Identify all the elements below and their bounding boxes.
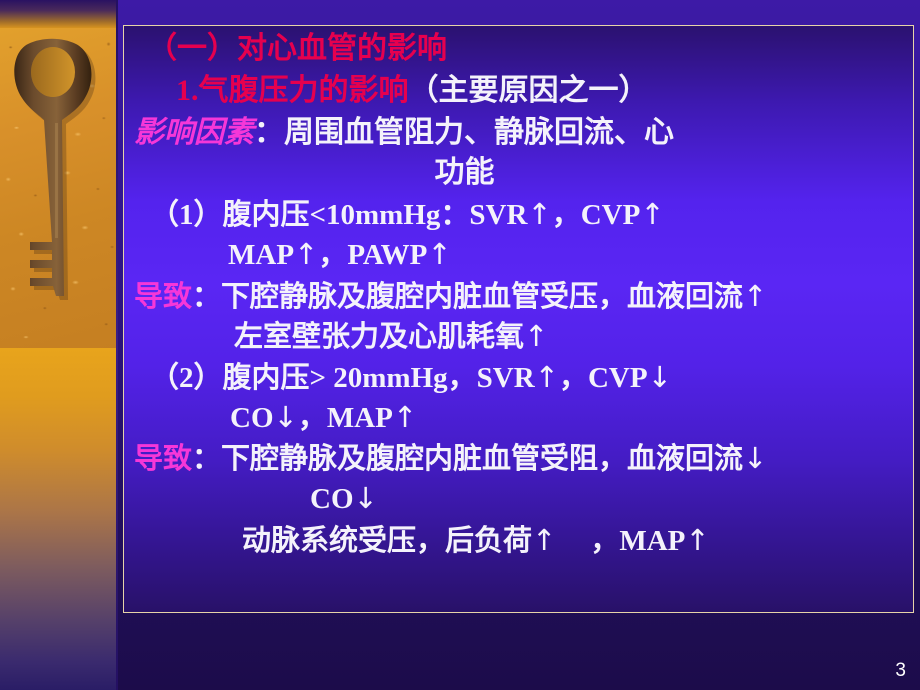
arrow-up-icon: ↑ (427, 237, 451, 271)
text-line-10: CO↓，MAP↑ (124, 403, 914, 433)
sidebar-edge-line (116, 0, 118, 690)
case2-cvp-label: ，CVP (559, 362, 648, 394)
iron-key-icon (0, 28, 118, 350)
subsection-title: 1.气腹压力的影响 (176, 74, 409, 107)
text-line-13: 动脉系统受压，后负荷↑，MAP↑ (124, 526, 914, 556)
arrow-up-icon: ↑ (743, 279, 767, 313)
result-text-1: ：下腔静脉及腹腔内脏血管受压，血液回流 (192, 281, 743, 313)
text-line-7: 导致：下腔静脉及腹腔内脏血管受压，血液回流↑ (124, 282, 914, 312)
case2-map-label: ，MAP (298, 402, 393, 434)
case1-map-label: MAP (228, 239, 294, 271)
text-line-6: MAP↑，PAWP↑ (124, 240, 914, 270)
text-line-2: 1.气腹压力的影响（主要原因之一） (124, 76, 914, 106)
arrow-down-icon: ↓ (354, 481, 378, 515)
arrow-up-icon: ↑ (524, 319, 548, 353)
result-text-3: 动脉系统受压，后负荷 (242, 525, 532, 557)
case1-cvp-label: ，CVP (552, 199, 641, 231)
result-text-2: ：下腔静脉及腹腔内脏血管受阻，血液回流 (192, 443, 743, 475)
result-label-1: 导致 (134, 281, 192, 313)
text-line-8: 左室壁张力及心肌耗氧↑ (124, 322, 914, 352)
arrow-up-icon: ↑ (527, 197, 551, 231)
arrow-up-icon: ↑ (535, 360, 559, 394)
slide-canvas: （一）对心血管的影响 1.气腹压力的影响（主要原因之一） 影响因素：周围血管阻力… (0, 0, 920, 690)
text-line-3: 影响因素：周围血管阻力、静脉回流、心 (124, 118, 914, 148)
sidebar-decoration (0, 0, 118, 690)
text-line-11: 导致：下腔静脉及腹腔内脏血管受阻，血液回流↓ (124, 444, 914, 474)
result-co-label: CO (310, 483, 354, 515)
arrow-up-icon: ↑ (294, 237, 318, 271)
arrow-up-icon: ↑ (640, 197, 664, 231)
result-map-label: MAP (619, 525, 685, 557)
content-frame: （一）对心血管的影响 1.气腹压力的影响（主要原因之一） 影响因素：周围血管阻力… (123, 25, 914, 613)
arrow-up-icon: ↑ (532, 523, 556, 557)
factors-value: ：周围血管阻力、静脉回流、心 (254, 116, 674, 149)
arrow-down-icon: ↓ (274, 400, 298, 434)
factors-label: 影响因素 (134, 116, 254, 149)
text-line-1: （一）对心血管的影响 (124, 34, 914, 64)
case1-pawp-label: ，PAWP (318, 239, 427, 271)
sidebar-bottom-gradient (0, 348, 118, 690)
text-line-5: （1）腹内压<10mmHg：SVR↑，CVP↑ (124, 200, 914, 230)
text-line-12: CO↓ (124, 484, 914, 514)
result-label-2: 导致 (134, 443, 192, 475)
result-text-1b: 左室壁张力及心肌耗氧 (234, 321, 524, 353)
section-heading: （一）对心血管的影响 (147, 32, 447, 65)
case2-co-label: CO (230, 402, 274, 434)
case2-condition: （2）腹内压> 20mmHg，SVR (150, 362, 535, 394)
arrow-down-icon: ↓ (648, 360, 672, 394)
text-line-9: （2）腹内压> 20mmHg，SVR↑，CVP↓ (124, 363, 914, 393)
page-number: 3 (895, 660, 906, 682)
subsection-note: （主要原因之一） (409, 74, 649, 107)
case1-condition: （1）腹内压<10mmHg：SVR (150, 199, 527, 231)
factors-continued: 功能 (435, 156, 495, 189)
arrow-up-icon: ↑ (393, 400, 417, 434)
text-line-4: 功能 (124, 158, 914, 188)
arrow-up-icon: ↑ (685, 523, 709, 557)
arrow-down-icon: ↓ (743, 441, 767, 475)
sidebar-top-gradient (0, 0, 118, 30)
slide-text-body: （一）对心血管的影响 1.气腹压力的影响（主要原因之一） 影响因素：周围血管阻力… (124, 28, 914, 556)
comma-separator: ， (590, 525, 619, 557)
